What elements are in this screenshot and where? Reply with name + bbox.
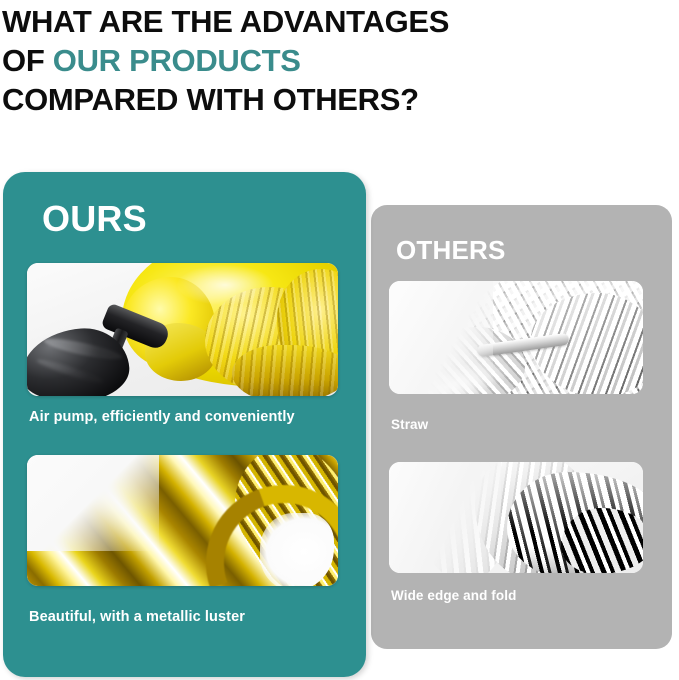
ours-caption-metallic-luster: Beautiful, with a metallic luster [29,609,245,625]
balloon-highlight [177,265,273,305]
scene-corner-fade [389,462,501,573]
others-image-wide-edge-fold [389,462,643,573]
others-image-straw [389,281,643,394]
ours-image-metallic-luster [27,455,338,586]
silver-foil-fold-illustration [389,462,643,573]
gold-foil-illustration [27,455,338,586]
headline-line-3: COMPARED WITH OTHERS? [2,82,419,117]
gold-foil-white-gap [260,513,334,586]
silver-foil-straw-illustration [389,281,643,394]
others-caption-wide-edge-fold: Wide edge and fold [391,588,516,603]
scene-corner-fade [27,455,159,551]
page-title: WHAT ARE THE ADVANTAGES OF OUR PRODUCTS … [2,2,677,119]
others-caption-straw: Straw [391,417,428,432]
air-pump-illustration [27,263,338,396]
scene-corner-fade [389,281,493,394]
ours-caption-air-pump: Air pump, efficiently and conveniently [29,409,295,425]
silver-fold-wide-edge [561,508,643,573]
ours-panel-title: OURS [42,198,147,240]
others-panel-title: OTHERS [396,235,506,266]
gold-balloon-lobe-bottom [232,345,338,396]
headline-line-1: WHAT ARE THE ADVANTAGES [2,4,449,39]
headline-line-2-prefix: OF [2,43,53,78]
ours-image-air-pump [27,263,338,396]
headline-accent-our-products: OUR PRODUCTS [53,43,301,78]
